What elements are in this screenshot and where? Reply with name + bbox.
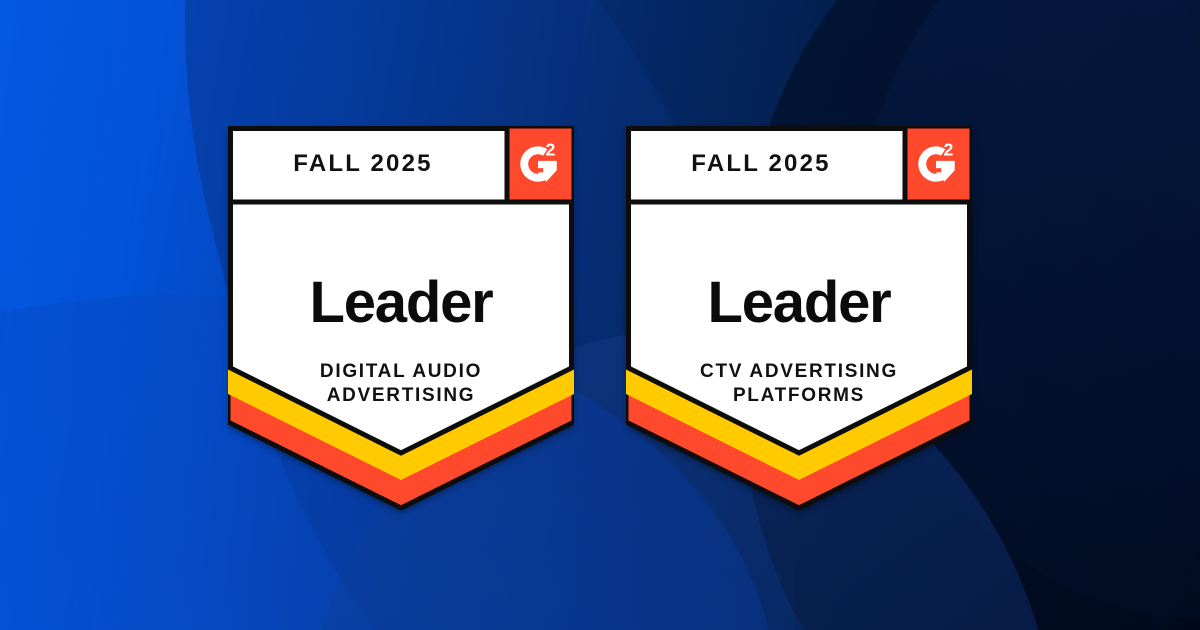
- g2-logo-background: [905, 129, 970, 202]
- badge-shape: [228, 126, 574, 510]
- badge-digital-audio-advertising[interactable]: FALL 2025 2: [228, 126, 574, 510]
- badge-group: FALL 2025 2: [0, 0, 1200, 630]
- g2-logo-background: [507, 129, 572, 202]
- badge-ctv-advertising-platforms[interactable]: FALL 2025 2 Leader CTV ADVERTISING PLATF…: [626, 126, 972, 510]
- badge-shape: [626, 126, 972, 510]
- g2-badges-banner: FALL 2025 2: [0, 0, 1200, 630]
